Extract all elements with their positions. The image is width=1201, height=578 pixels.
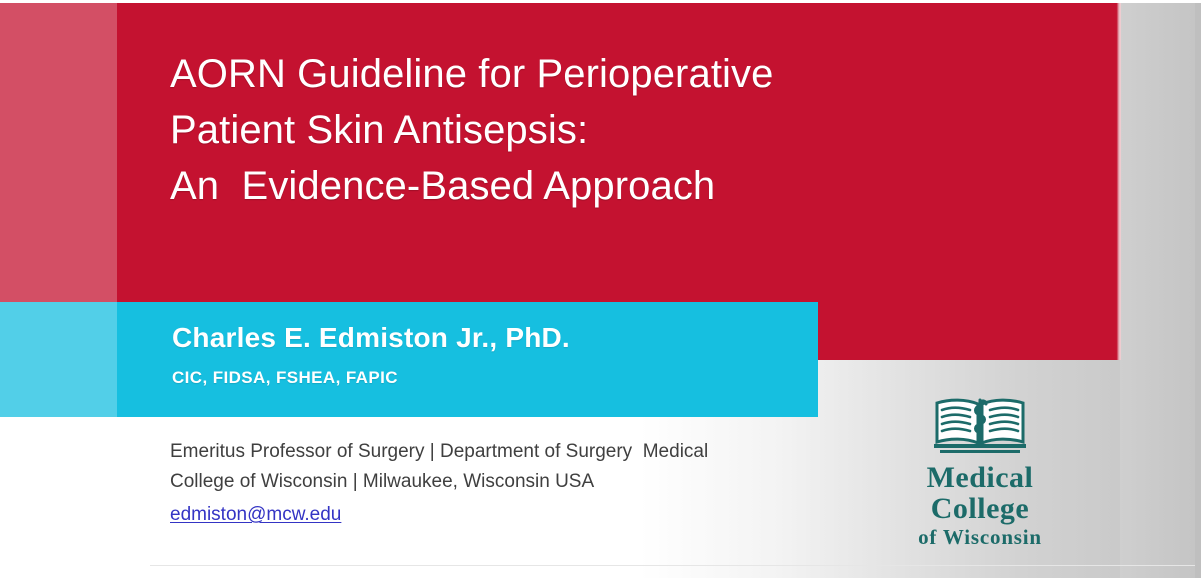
logo-word-medical: Medical [890,463,1070,493]
title-line-2: Patient Skin Antisepsis: [170,102,1070,158]
presenter-credentials: CIC, FIDSA, FSHEA, FAPIC [172,368,398,388]
right-edge-strip [1195,0,1201,578]
title-slide: AORN Guideline for Perioperative Patient… [0,0,1201,578]
medical-college-of-wisconsin-logo: Medical College of Wisconsin [890,396,1070,548]
email-link[interactable]: edmiston@mcw.edu [170,500,341,530]
presenter-color-block-cyan [0,302,818,417]
title-line-1: AORN Guideline for Perioperative [170,46,1070,102]
bottom-hairline-divider [150,565,1195,566]
presenter-name: Charles E. Edmiston Jr., PhD. [172,322,570,354]
right-gray-band [1120,0,1201,578]
affiliation-block: Emeritus Professor of Surgery | Departme… [170,437,810,530]
affiliation-line-2: College of Wisconsin | Milwaukee, Wiscon… [170,467,810,497]
logo-word-college: College [890,494,1070,524]
title-block-right-edge [1113,3,1121,360]
title-line-3: An Evidence-Based Approach [170,158,1070,214]
top-white-edge [0,0,1201,3]
logo-wordmark: Medical College of Wisconsin [890,463,1070,548]
affiliation-line-1: Emeritus Professor of Surgery | Departme… [170,437,810,467]
left-translucent-overlay-strip [0,3,117,417]
open-book-caduceus-icon [890,396,1070,463]
logo-word-of-wisconsin: of Wisconsin [890,527,1070,548]
slide-title: AORN Guideline for Perioperative Patient… [170,46,1070,214]
